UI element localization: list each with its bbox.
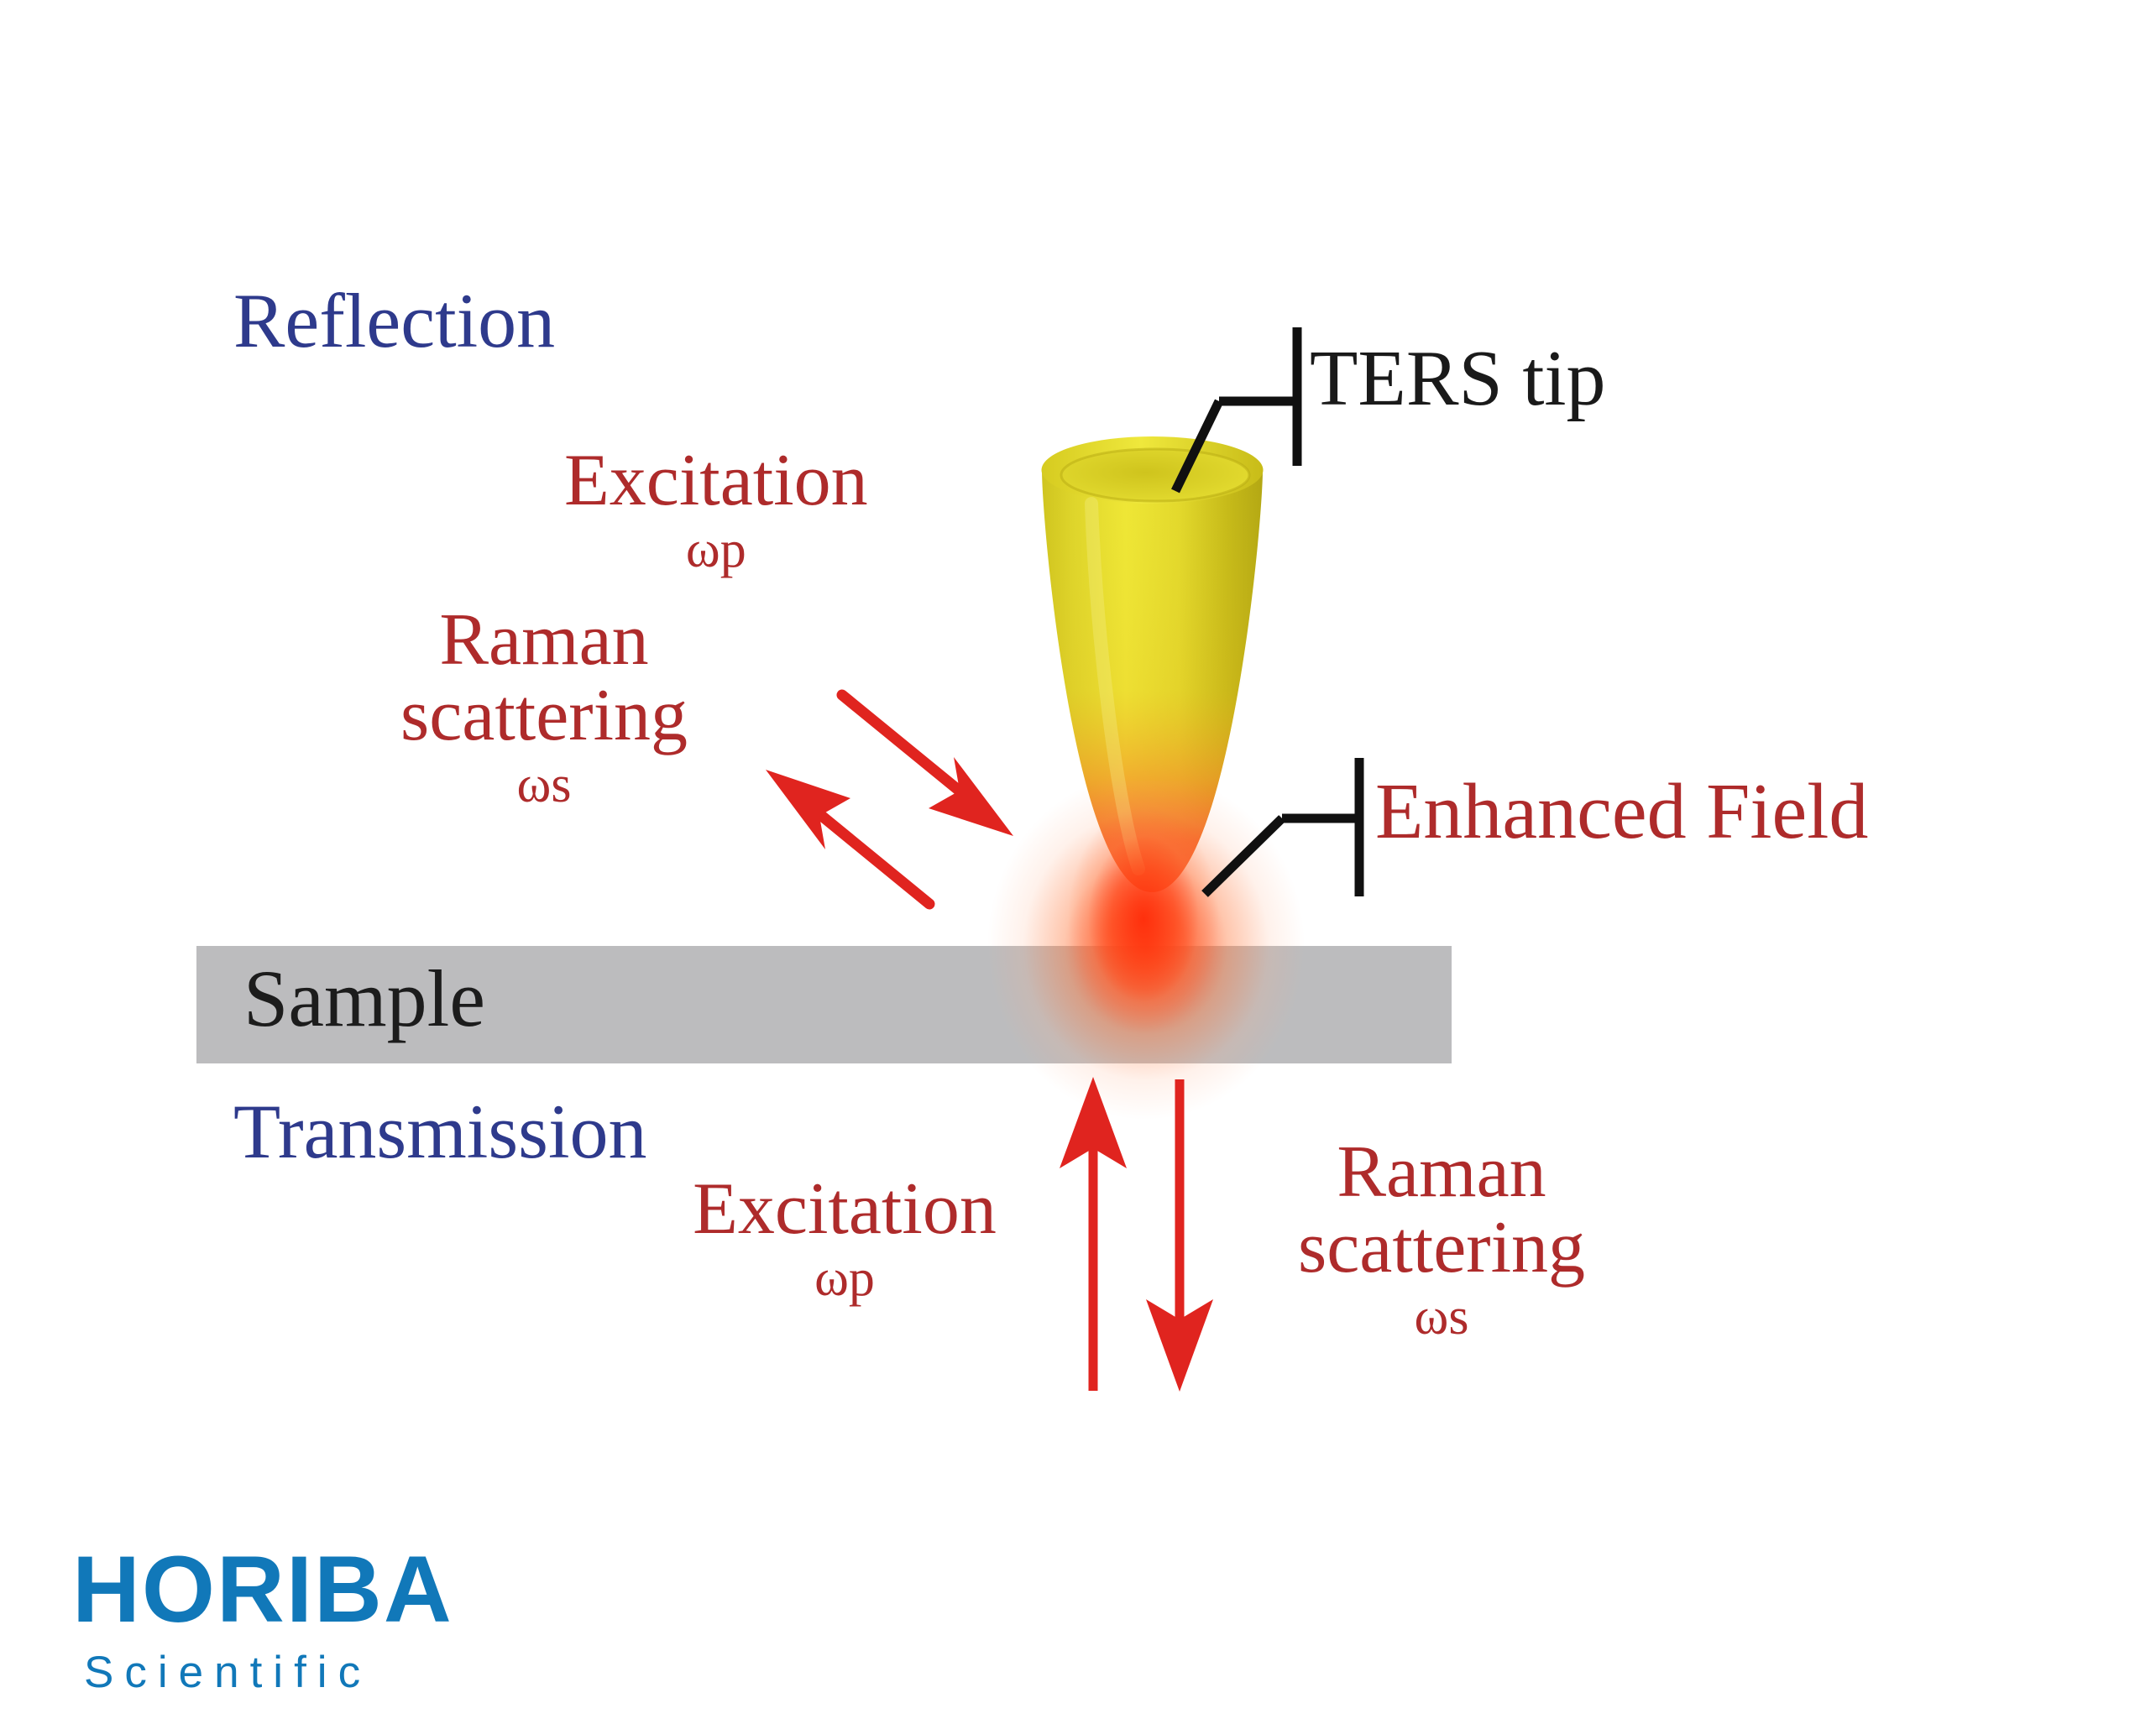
- ters-tip-callout-label: TERS tip: [1310, 339, 1606, 420]
- reflection-excitation-text: Excitation: [564, 440, 868, 521]
- reflection-raman-text-line2: scattering: [400, 675, 688, 756]
- reflection-raman-label: Raman scattering ωs: [351, 603, 737, 812]
- transmission-excitation-symbol: ωp: [635, 1252, 1054, 1305]
- reflection-excitation-symbol: ωp: [564, 524, 868, 577]
- reflection-raman-text-line1: Raman: [439, 599, 648, 681]
- reflection-raman-arrow: [766, 770, 929, 904]
- horiba-tagline: Scientific: [84, 1650, 453, 1695]
- transmission-excitation-label: Excitation ωp: [635, 1172, 1054, 1305]
- transmission-mode-label: Transmission: [233, 1093, 647, 1172]
- horiba-wordmark: HORIBA: [72, 1543, 453, 1637]
- transmission-excitation-arrow: [1060, 1077, 1127, 1391]
- transmission-raman-text-line2: scattering: [1298, 1207, 1585, 1288]
- transmission-excitation-text: Excitation: [693, 1168, 997, 1250]
- reflection-excitation-arrow: [842, 695, 1013, 836]
- transmission-raman-text-line1: Raman: [1337, 1131, 1546, 1213]
- enhanced-field-leader-line: [1205, 758, 1359, 896]
- transmission-raman-label: Raman scattering ωs: [1244, 1135, 1639, 1344]
- transmission-raman-symbol: ωs: [1244, 1291, 1639, 1344]
- reflection-raman-symbol: ωs: [351, 759, 737, 812]
- enhanced-field-callout-label: Enhanced Field: [1375, 772, 1868, 853]
- annotation-vectors: [0, 0, 2156, 1724]
- reflection-mode-label: Reflection: [233, 282, 555, 361]
- diagram-canvas: Sample: [0, 0, 2156, 1724]
- reflection-excitation-label: Excitation ωp: [564, 443, 868, 577]
- transmission-raman-arrow: [1146, 1079, 1213, 1392]
- horiba-logo: HORIBA Scientific: [72, 1543, 453, 1695]
- ters-tip-leader-line: [1175, 327, 1297, 491]
